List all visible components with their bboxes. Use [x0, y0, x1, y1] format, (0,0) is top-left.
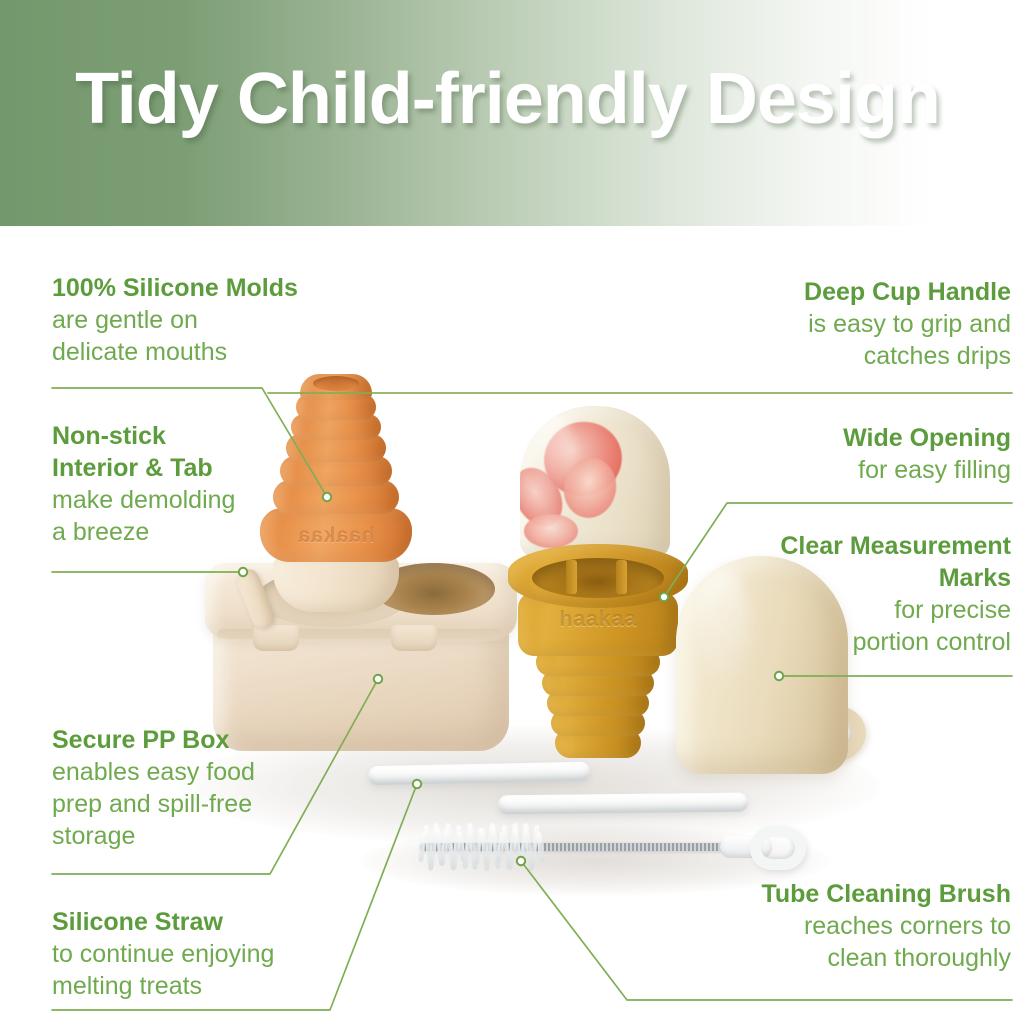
- callout-wide-opening: Wide Opening for easy filling: [843, 422, 1011, 486]
- leader-dot-silicone-molds: [323, 493, 331, 501]
- leader-dot-pp-box: [374, 675, 382, 683]
- callout-deep-cup-handle: Deep Cup Handle is easy to grip and catc…: [804, 276, 1011, 372]
- callout-body: enables easy food prep and spill-free st…: [52, 756, 255, 852]
- callout-headline: Silicone Straw: [52, 906, 274, 938]
- callout-body: reaches corners to clean thoroughly: [761, 910, 1011, 974]
- leader-dot-silicone-straw: [413, 780, 421, 788]
- callout-silicone-straw: Silicone Straw to continue enjoying melt…: [52, 906, 274, 1002]
- callout-headline: Tube Cleaning Brush: [761, 878, 1011, 910]
- leader-dot-wide-opening: [660, 593, 668, 601]
- leader-dot-cleaning-brush: [517, 857, 525, 865]
- callout-silicone-molds: 100% Silicone Molds are gentle on delica…: [52, 272, 298, 368]
- callout-headline: Secure PP Box: [52, 724, 255, 756]
- callout-tube-cleaning-brush: Tube Cleaning Brush reaches corners to c…: [761, 878, 1011, 974]
- callout-headline: Deep Cup Handle: [804, 276, 1011, 308]
- leader-dot-non-stick: [239, 568, 247, 576]
- callout-body: are gentle on delicate mouths: [52, 304, 298, 368]
- callout-body: make demolding a breeze: [52, 484, 235, 548]
- leader-dot-measurement-marks: [775, 672, 783, 680]
- callout-headline: Clear Measurement Marks: [780, 530, 1011, 594]
- callout-secure-pp-box: Secure PP Box enables easy food prep and…: [52, 724, 255, 852]
- callout-body: for easy filling: [843, 454, 1011, 486]
- callout-clear-measurement-marks: Clear Measurement Marks for precise port…: [780, 530, 1011, 658]
- callout-headline: 100% Silicone Molds: [52, 272, 298, 304]
- callout-body: is easy to grip and catches drips: [804, 308, 1011, 372]
- callout-non-stick-interior: Non-stick Interior & Tab make demolding …: [52, 420, 235, 548]
- callout-body: for precise portion control: [780, 594, 1011, 658]
- callout-headline: Non-stick Interior & Tab: [52, 420, 235, 484]
- callout-headline: Wide Opening: [843, 422, 1011, 454]
- callout-body: to continue enjoying melting treats: [52, 938, 274, 1002]
